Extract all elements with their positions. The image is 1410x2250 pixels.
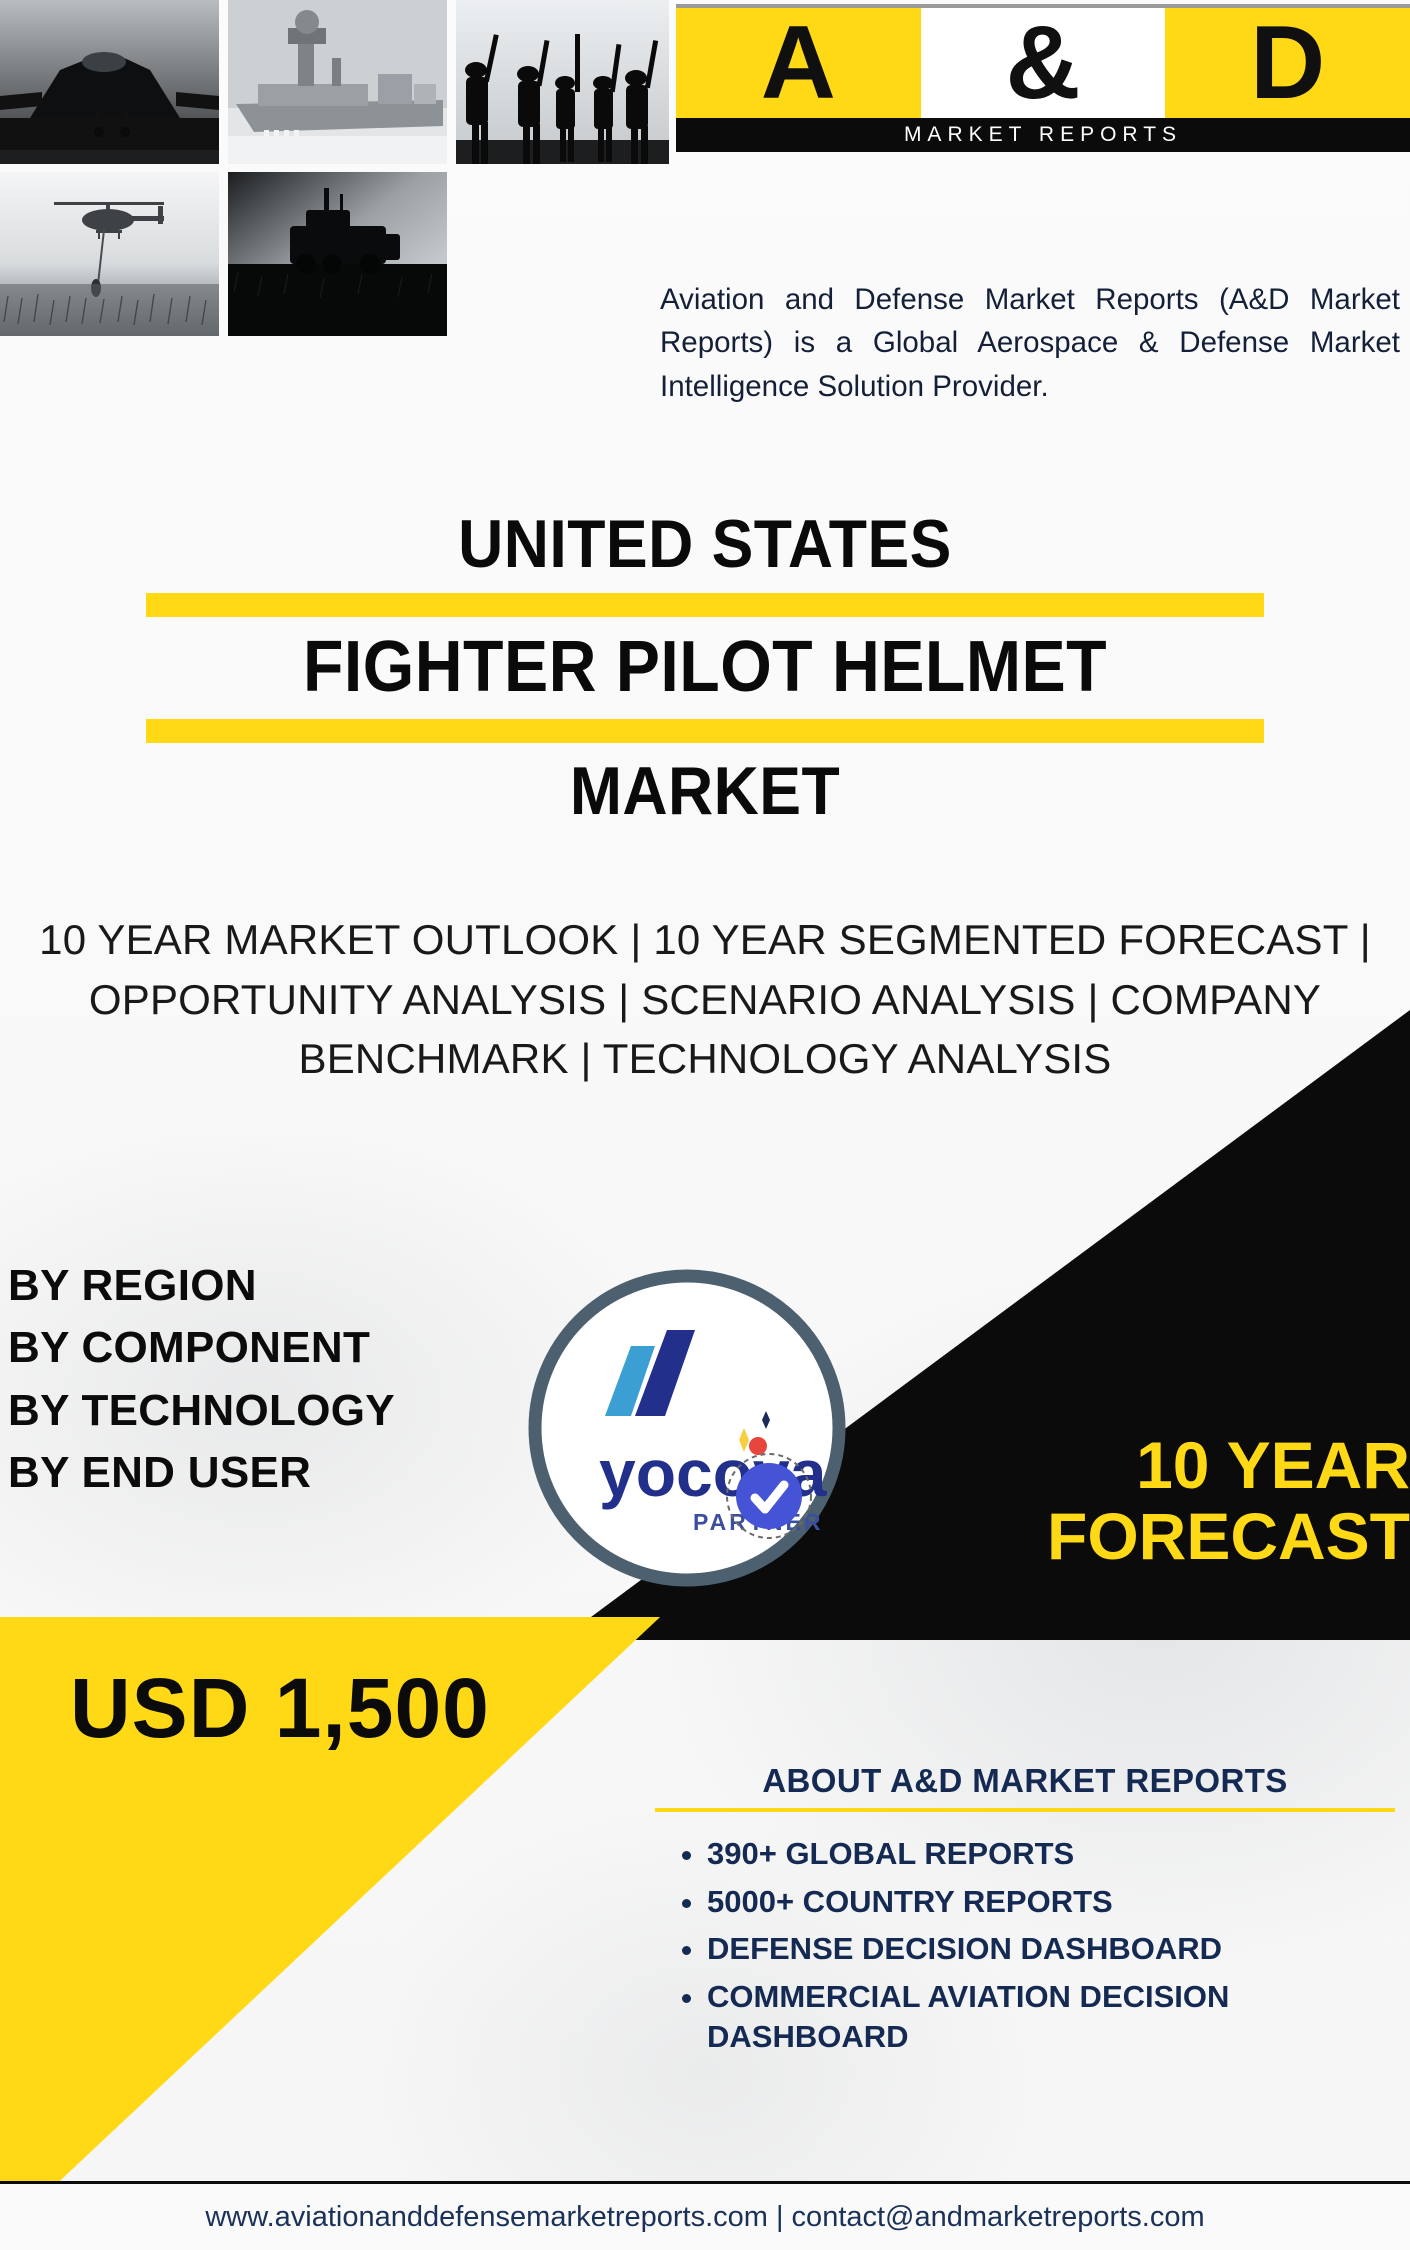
logo-letter-ampersand: & (921, 8, 1166, 118)
title-line-market: MARKET (56, 757, 1353, 826)
about-item-global-reports: 390+ GLOBAL REPORTS (707, 1834, 1395, 1874)
about-bullet-list: 390+ GLOBAL REPORTS 5000+ COUNTRY REPORT… (655, 1834, 1395, 2056)
title-rule-top (146, 593, 1264, 617)
footer-bar: www.aviationanddefensemarketreports.com … (0, 2181, 1410, 2250)
about-section: ABOUT A&D MARKET REPORTS 390+ GLOBAL REP… (655, 1762, 1395, 2064)
forecast-callout: 10 YEAR FORECAST (970, 1430, 1410, 1573)
about-item-country-reports: 5000+ COUNTRY REPORTS (707, 1882, 1395, 1922)
logo-band-text: MARKET REPORTS (904, 123, 1182, 147)
poster-root: A & D MARKET REPORTS Aviation and Defens… (0, 0, 1410, 2250)
about-title: ABOUT A&D MARKET REPORTS (655, 1762, 1395, 1800)
report-scope-subtitle: 10 YEAR MARKET OUTLOOK | 10 YEAR SEGMENT… (38, 910, 1372, 1089)
segment-item-region: BY REGION (8, 1255, 395, 1317)
armored-vehicle-photo (228, 172, 447, 336)
price-label: USD 1,500 (70, 1660, 490, 1757)
footer-contact-text: www.aviationanddefensemarketreports.com … (205, 2201, 1204, 2234)
segmentation-list: BY REGION BY COMPONENT BY TECHNOLOGY BY … (8, 1255, 395, 1505)
helicopter-photo (0, 172, 219, 336)
logo-letter-d: D (1165, 8, 1410, 118)
logo-market-reports-band: MARKET REPORTS (676, 118, 1410, 152)
forecast-line-2: FORECAST (970, 1501, 1410, 1572)
about-item-commercial-dashboard: COMMERCIAL AVIATION DECISION DASHBOARD (707, 1977, 1395, 2056)
intro-paragraph: Aviation and Defense Market Reports (A&D… (660, 278, 1400, 409)
logo-letter-a: A (676, 8, 921, 118)
segment-item-component: BY COMPONENT (8, 1317, 395, 1379)
aircraft-carrier-photo (228, 0, 447, 164)
title-line-product: FIGHTER PILOT HELMET (56, 631, 1353, 704)
soldiers-silhouette-photo (456, 0, 669, 164)
title-block: UNITED STATES FIGHTER PILOT HELMET MARKE… (0, 510, 1410, 826)
title-rule-bottom (146, 719, 1264, 743)
logo-letter-blocks: A & D (676, 8, 1410, 118)
segment-item-end-user: BY END USER (8, 1442, 395, 1504)
about-item-defense-dashboard: DEFENSE DECISION DASHBOARD (707, 1929, 1395, 1969)
yocova-partner-badge: yocova PARTNER (527, 1268, 847, 1588)
title-line-country: UNITED STATES (56, 510, 1353, 579)
segment-item-technology: BY TECHNOLOGY (8, 1380, 395, 1442)
forecast-line-1: 10 YEAR (970, 1430, 1410, 1501)
ad-market-reports-logo: A & D MARKET REPORTS (676, 0, 1410, 152)
fighter-jet-photo (0, 0, 219, 164)
about-underline (655, 1808, 1395, 1812)
